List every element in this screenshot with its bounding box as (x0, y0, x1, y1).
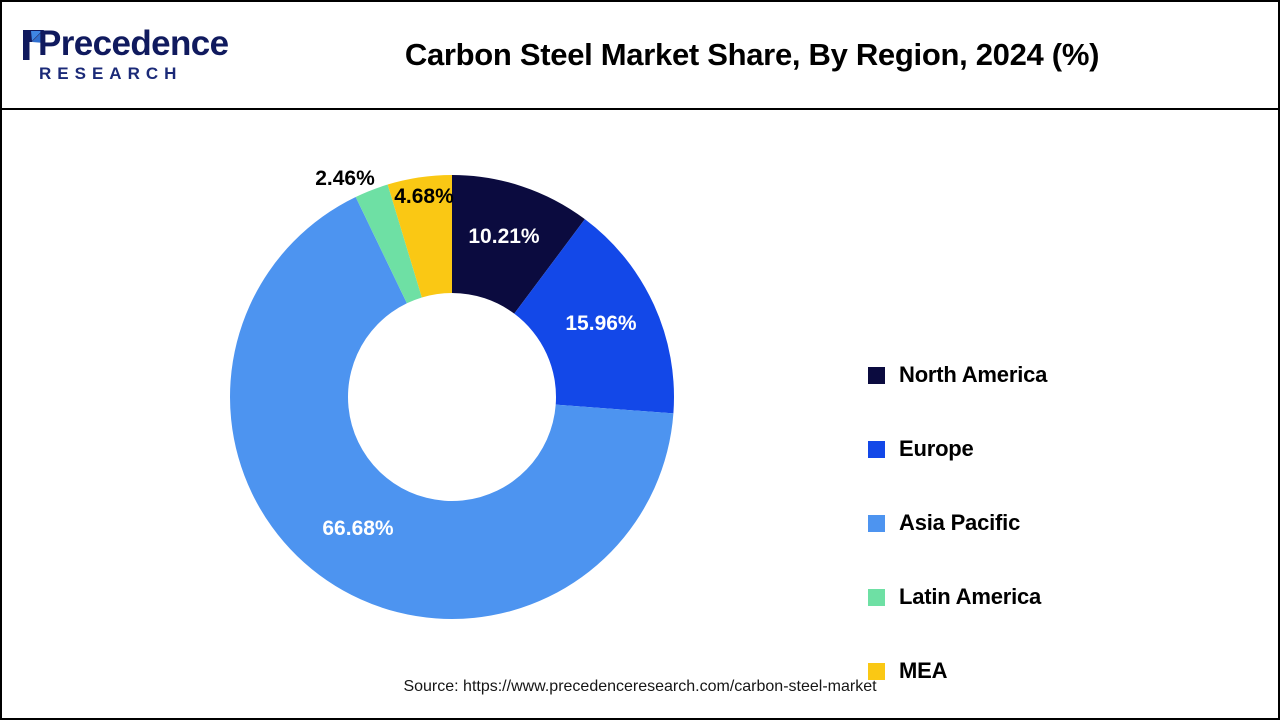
legend-swatch-north-america (868, 367, 885, 384)
legend-swatch-mea (868, 663, 885, 680)
legend-swatch-latin-america (868, 589, 885, 606)
legend-label-latin-america: Latin America (899, 584, 1041, 610)
legend-label-north-america: North America (899, 362, 1047, 388)
legend-swatch-asia-pacific (868, 515, 885, 532)
page-title: Carbon Steel Market Share, By Region, 20… (252, 34, 1252, 76)
slice-value-label: 2.46% (315, 167, 375, 190)
chart-page: Precedence RESEARCH Carbon Steel Market … (0, 0, 1280, 720)
legend-item-asia-pacific[interactable]: Asia Pacific (868, 486, 1198, 560)
page-header: Precedence RESEARCH Carbon Steel Market … (2, 2, 1278, 110)
legend-item-mea[interactable]: MEA (868, 634, 1198, 708)
slice-value-label: 66.68% (322, 517, 394, 540)
legend-label-europe: Europe (899, 436, 974, 462)
legend-item-europe[interactable]: Europe (868, 412, 1198, 486)
source-caption: Source: https://www.precedenceresearch.c… (2, 678, 1278, 696)
legend-label-asia-pacific: Asia Pacific (899, 510, 1020, 536)
slice-value-label: 4.68% (394, 185, 454, 208)
legend-item-latin-america[interactable]: Latin America (868, 560, 1198, 634)
donut-slices (230, 175, 674, 619)
chart-legend: North America Europe Asia Pacific Latin … (868, 338, 1198, 708)
logo-subtext: RESEARCH (39, 64, 182, 84)
chart-area: 10.21%15.96%66.68%2.46%4.68% North Ameri… (2, 110, 1278, 718)
slice-value-label: 15.96% (565, 312, 637, 335)
precedence-research-logo: Precedence RESEARCH (20, 24, 230, 90)
donut-chart: 10.21%15.96%66.68%2.46%4.68% (2, 110, 862, 718)
legend-item-north-america[interactable]: North America (868, 338, 1198, 412)
legend-swatch-europe (868, 441, 885, 458)
logo-wordmark: Precedence (38, 24, 229, 64)
slice-value-label: 10.21% (468, 225, 540, 248)
